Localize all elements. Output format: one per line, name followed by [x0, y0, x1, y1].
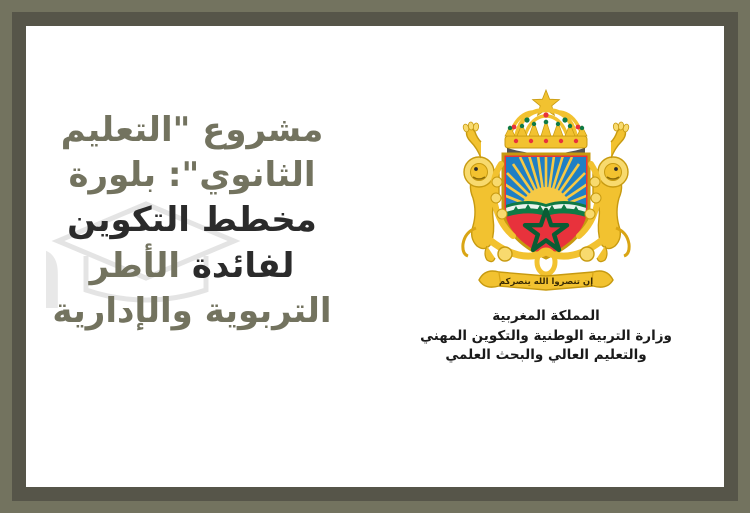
headline-line-5: التربوية والإدارية [34, 289, 350, 334]
shield-group [501, 148, 591, 258]
headline-line-1: مشروع "التعليم [34, 108, 350, 153]
headline-line-4-head: لفائدة [192, 246, 294, 286]
ministry-line-3: والتعليم العالي والبحث العلمي [374, 346, 718, 366]
morocco-coat-of-arms-icon: إن تنصروا الله ينصركم [421, 86, 671, 301]
crown-group [505, 90, 587, 160]
motto-text: إن تنصروا الله ينصركم [499, 277, 593, 287]
ministry-caption: المملكة المغربية وزارة التربية الوطنية و… [374, 307, 718, 366]
headline-line-3: مخطط التكوين [34, 198, 350, 243]
emblem-block: إن تنصروا الله ينصركم المملكة المغربية و… [374, 26, 724, 366]
headline-line-2: الثانوي": بلورة [34, 153, 350, 198]
ministry-line-2: وزارة التربية الوطنية والتكوين المهني [374, 327, 718, 347]
ministry-line-1: المملكة المغربية [374, 307, 718, 327]
headline-block: مشروع "التعليم الثانوي": بلورة مخطط التك… [26, 26, 356, 334]
poster-inner-frame: 4graphdi.com مشروع "التعليم الثانوي": بل… [12, 12, 738, 501]
poster-canvas: 4graphdi.com مشروع "التعليم الثانوي": بل… [26, 26, 724, 487]
headline-line-4-tail: الأطر [90, 246, 180, 286]
poster-root: 4graphdi.com مشروع "التعليم الثانوي": بل… [0, 0, 750, 513]
headline-line-4: لفائدة الأطر [34, 244, 350, 289]
poster-content: مشروع "التعليم الثانوي": بلورة مخطط التك… [26, 26, 724, 487]
